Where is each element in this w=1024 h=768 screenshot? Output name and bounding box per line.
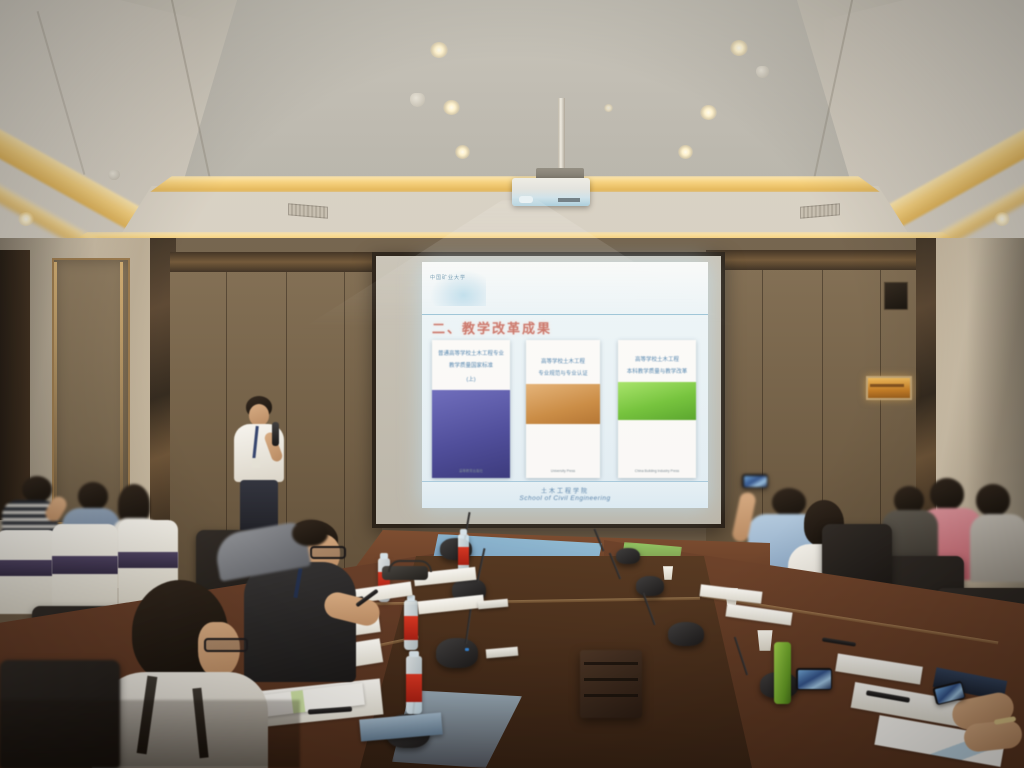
cable-box-slot [584,678,638,681]
presenter-badge [252,458,260,468]
bottle-label [404,616,418,640]
book-title-blue-2: 教学质量国家标准 [437,362,506,371]
book-title-blue-3: (上) [437,376,506,385]
bottle-label [458,547,469,565]
attendee-hands-phone [930,672,1024,768]
slide-divider [422,314,708,315]
conference-microphone[interactable] [436,638,478,668]
book-cover-group: 普通高等学校土木工程专业 教学质量国家标准 (上) 高等教育出版社 高等学校土木… [432,340,698,480]
downlight [678,145,693,159]
exit-sign-text [870,384,904,387]
attendee-hair [78,482,108,510]
exit-sign [866,376,912,400]
slide-section-title: 二、教学改革成果 [432,318,552,337]
book-title-orange-2: 专业规范与专业认证 [530,370,595,379]
projection-screen: 中国矿业大学 二、教学改革成果 普通高等学校土木工程专业 教学质量国家标准 (上… [372,252,725,528]
green-thermos[interactable] [774,642,791,704]
bottle-cap [460,529,467,535]
downlight [443,100,460,115]
headset-cable [388,560,432,572]
book-cover-blue: 普通高等学校土木工程专业 教学质量国家标准 (上) 高等教育出版社 [432,340,510,478]
downlight [430,42,448,58]
book-title-orange-1: 高等学校土木工程 [530,358,595,367]
attendee-hair [292,520,328,546]
phone-screen [798,670,831,689]
downlight [730,40,748,56]
attendee-hair [976,484,1010,516]
chair-sash [0,560,58,576]
book-title-blue-1: 普通高等学校土木工程专业 [437,350,506,359]
downlight [700,105,717,120]
book-title-green-1: 高等学校土木工程 [623,356,692,365]
slide-footer-en: School of Civil Engineering [422,495,708,502]
phone-screen [744,476,767,487]
presenter-face [249,404,269,426]
water-bottle[interactable] [404,600,418,650]
microphone-led [465,648,469,651]
downlight [604,104,613,112]
book-cover-orange: 高等学校土木工程 专业规范与专业认证 University Press [526,340,600,478]
photographer-phone[interactable] [742,474,768,488]
attendee-hair [22,476,52,502]
book-footer-orange: University Press [526,469,600,473]
microphone-handheld [272,422,279,446]
projector-lens [519,196,533,203]
downlight [455,145,470,159]
bottle-cap [380,553,388,559]
university-logo-label: 中国矿业大学 [430,274,466,281]
downlight [18,212,34,226]
wall-header-band-right [706,250,918,272]
recording-phone[interactable] [796,668,832,690]
book-band-green [618,382,696,420]
wall-speaker [884,282,908,310]
conference-microphone[interactable] [636,576,664,596]
ceiling [0,0,1024,262]
book-title-green-2: 本科教学质量与教学改革 [623,368,692,377]
book-band-orange [526,384,600,424]
presentation-slide: 中国矿业大学 二、教学改革成果 普通高等学校土木工程专业 教学质量国家标准 (上… [422,262,708,508]
projector-mount-pole [558,98,565,172]
book-footer-green: China Building Industry Press [618,469,696,473]
attendee-hand [963,719,1024,753]
eyeglasses-icon [204,638,248,652]
table-cable-box [580,650,642,718]
cable-box-slot [584,662,638,665]
book-band-blue [432,390,510,478]
conference-microphone[interactable] [616,548,640,564]
book-footer-blue: 高等教育出版社 [432,468,510,473]
bottle-label [406,674,422,702]
projector-vent [558,198,580,202]
conference-microphone[interactable] [668,622,704,646]
water-bottle[interactable] [406,656,422,714]
foreground-shadow [0,700,300,768]
chair-sash [118,552,178,568]
wall-header-band-left [170,252,382,274]
chair-sash [52,556,118,574]
conference-room-photo: 中国矿业大学 二、教学改革成果 普通高等学校土木工程专业 教学质量国家标准 (上… [0,0,1024,768]
downlight [994,212,1010,226]
cable-box-slot [584,694,638,697]
bottle-cap [409,651,419,657]
slide-footer-cn: 土木工程学院 [422,486,708,495]
attendee-grey-top [970,514,1024,582]
slide-footer: 土木工程学院 School of Civil Engineering [422,481,708,508]
book-cover-green: 高等学校土木工程 本科教学质量与教学改革 China Building Indu… [618,340,696,478]
